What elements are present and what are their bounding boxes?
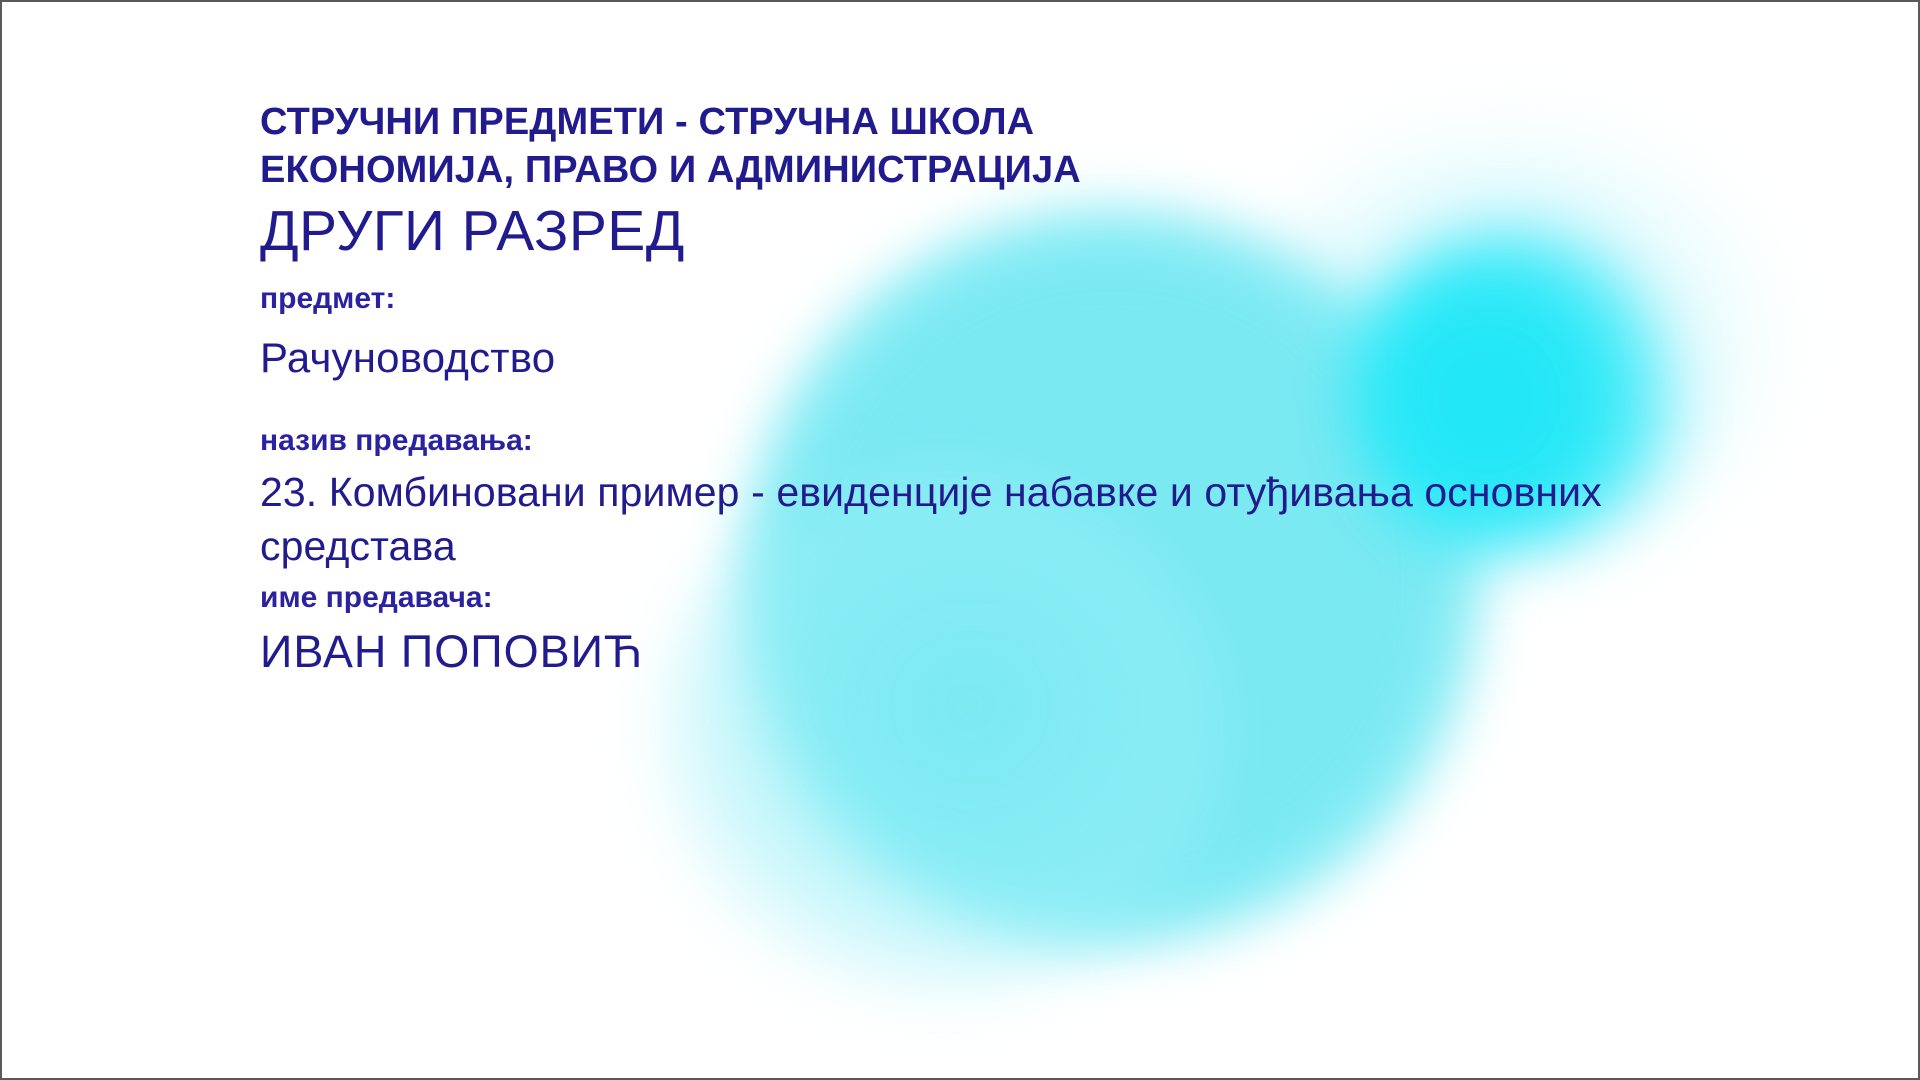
lecture-title-label: назив предавања: xyxy=(260,421,1820,461)
course-program-line: ЕКОНОМИЈА, ПРАВО И АДМИНИСТРАЦИЈА xyxy=(260,146,1820,194)
course-heading: СТРУЧНИ ПРЕДМЕТИ - СТРУЧНА ШКОЛА ЕКОНОМИ… xyxy=(260,98,1820,265)
title-slide: СТРУЧНИ ПРЕДМЕТИ - СТРУЧНА ШКОЛА ЕКОНОМИ… xyxy=(0,0,1920,1080)
course-category-line: СТРУЧНИ ПРЕДМЕТИ - СТРУЧНА ШКОЛА xyxy=(260,98,1820,146)
lecture-title-value: 23. Комбиновани пример - евиденције наба… xyxy=(260,465,1790,574)
section-spacer xyxy=(260,385,1820,421)
grade-level-title: ДРУГИ РАЗРЕД xyxy=(260,197,1820,265)
teacher-name-value: ИВАН ПОПОВИЋ xyxy=(260,625,1820,679)
teacher-name-label: име предавача: xyxy=(260,578,1820,618)
subject-value: Рачуноводство xyxy=(260,332,1820,385)
slide-content: СТРУЧНИ ПРЕДМЕТИ - СТРУЧНА ШКОЛА ЕКОНОМИ… xyxy=(260,98,1820,679)
subject-label: предмет: xyxy=(260,279,1820,319)
